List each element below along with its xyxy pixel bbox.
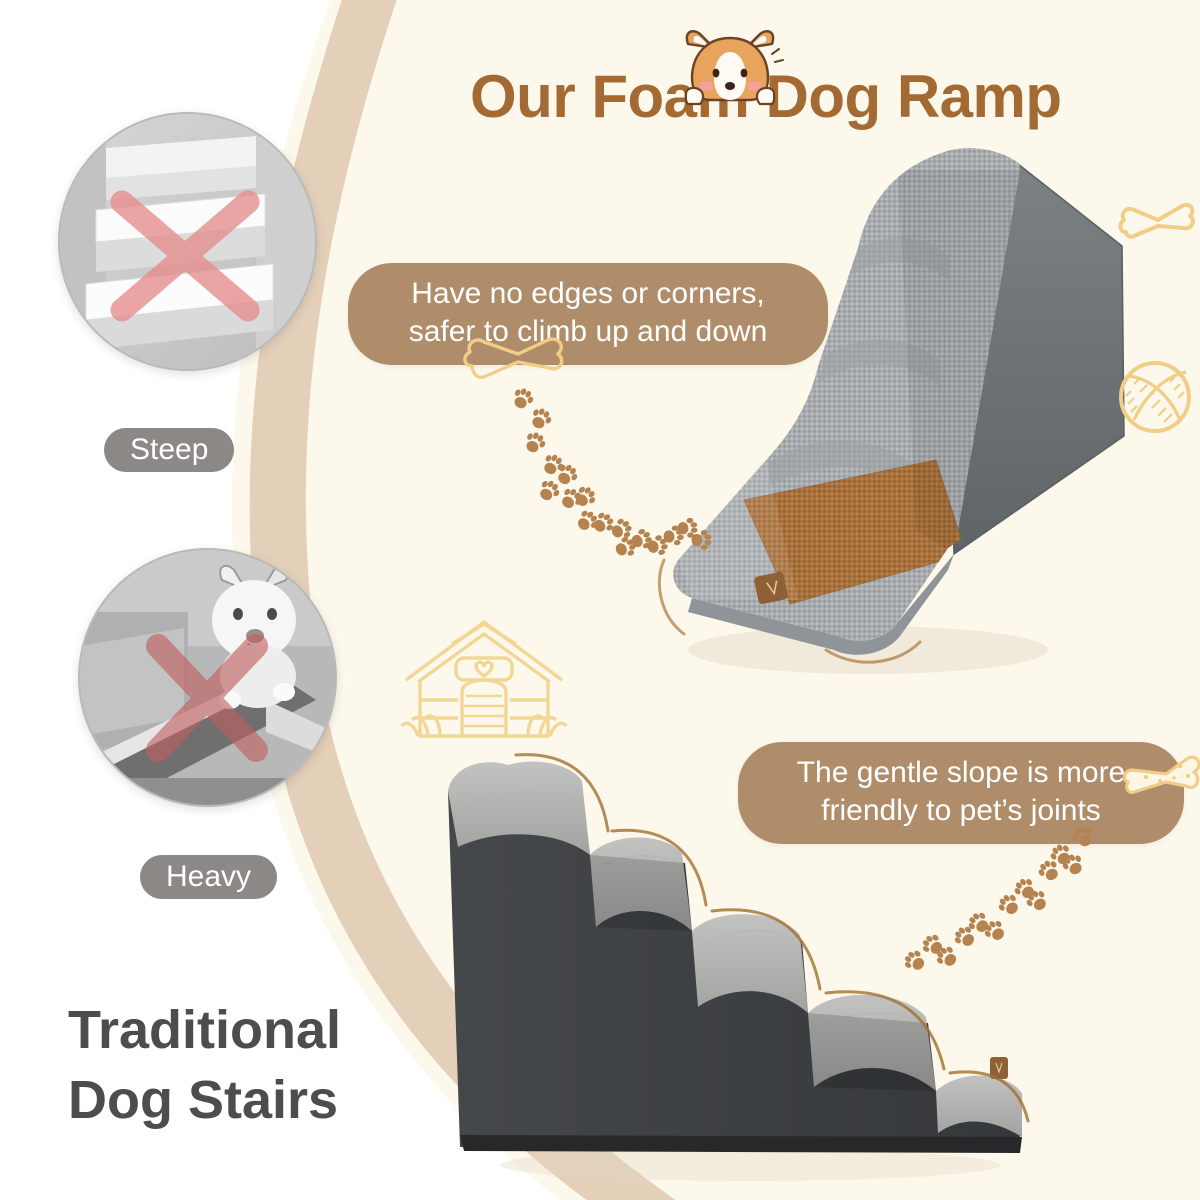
comparison-photo-heavy [78,548,337,807]
callout-gentle-slope: The gentle slope is more friendly to pet… [738,742,1184,844]
page-title: Our Foam Dog Ramp [470,62,1180,131]
callout-no-edges: Have no edges or corners, safer to climb… [348,263,828,365]
badge-steep: Steep [104,428,234,472]
comparison-photo-steep [58,112,317,371]
page-subtitle-traditional-dog-stairs: Traditional Dog Stairs [68,995,498,1135]
badge-heavy: Heavy [140,855,277,899]
infographic-canvas: Our Foam Dog Ramp [0,0,1200,1200]
corgi-face-icon [676,26,784,118]
